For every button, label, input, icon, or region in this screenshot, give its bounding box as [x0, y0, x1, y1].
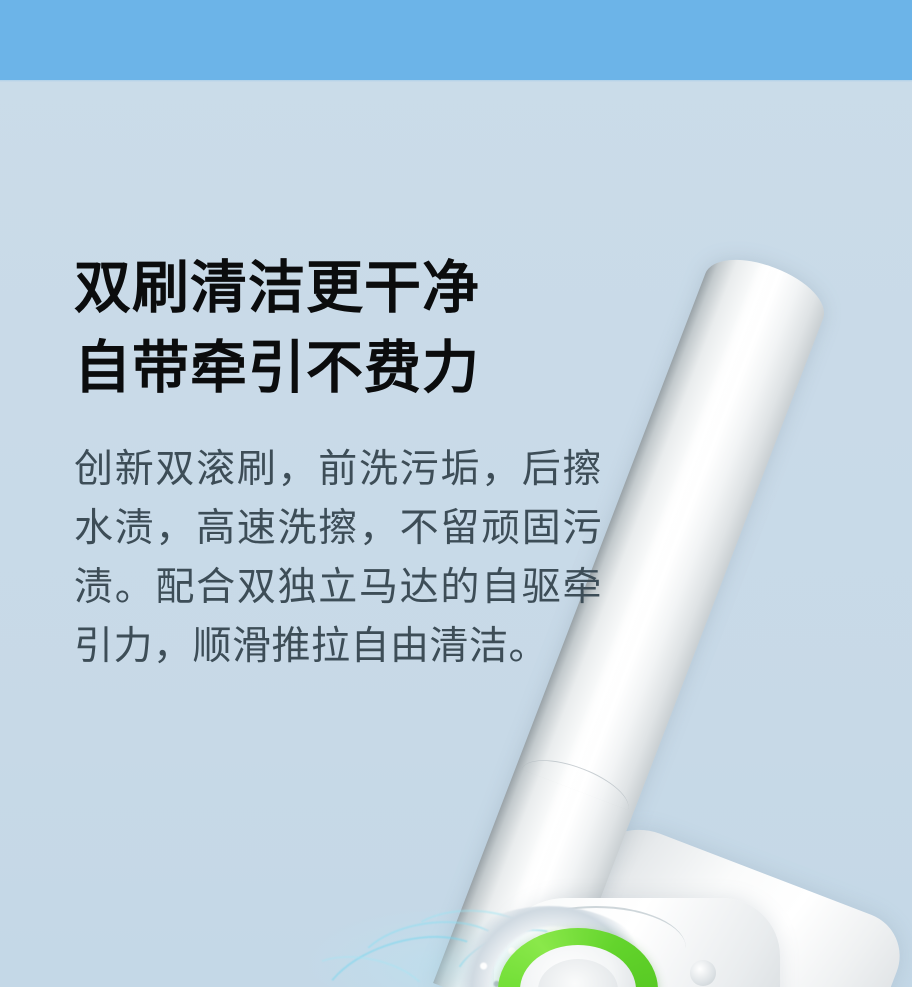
- copy-block: 双刷清洁更干净 自带牵引不费力 创新双滚刷，前洗污垢，后擦水渍，高速洗擦，不留顽…: [74, 248, 634, 676]
- headline-line-2: 自带牵引不费力: [74, 328, 634, 408]
- headline-line-1: 双刷清洁更干净: [74, 248, 634, 328]
- top-color-band: [0, 0, 912, 80]
- body-paragraph: 创新双滚刷，前洗污垢，后擦水渍，高速洗擦，不留顽固污渍。配合双独立马达的自驱牵引…: [74, 440, 602, 676]
- product-feature-banner: 双刷清洁更干净 自带牵引不费力 创新双滚刷，前洗污垢，后擦水渍，高速洗擦，不留顽…: [0, 0, 912, 987]
- headline: 双刷清洁更干净 自带牵引不费力: [74, 248, 634, 408]
- top-band-shadow: [0, 76, 912, 82]
